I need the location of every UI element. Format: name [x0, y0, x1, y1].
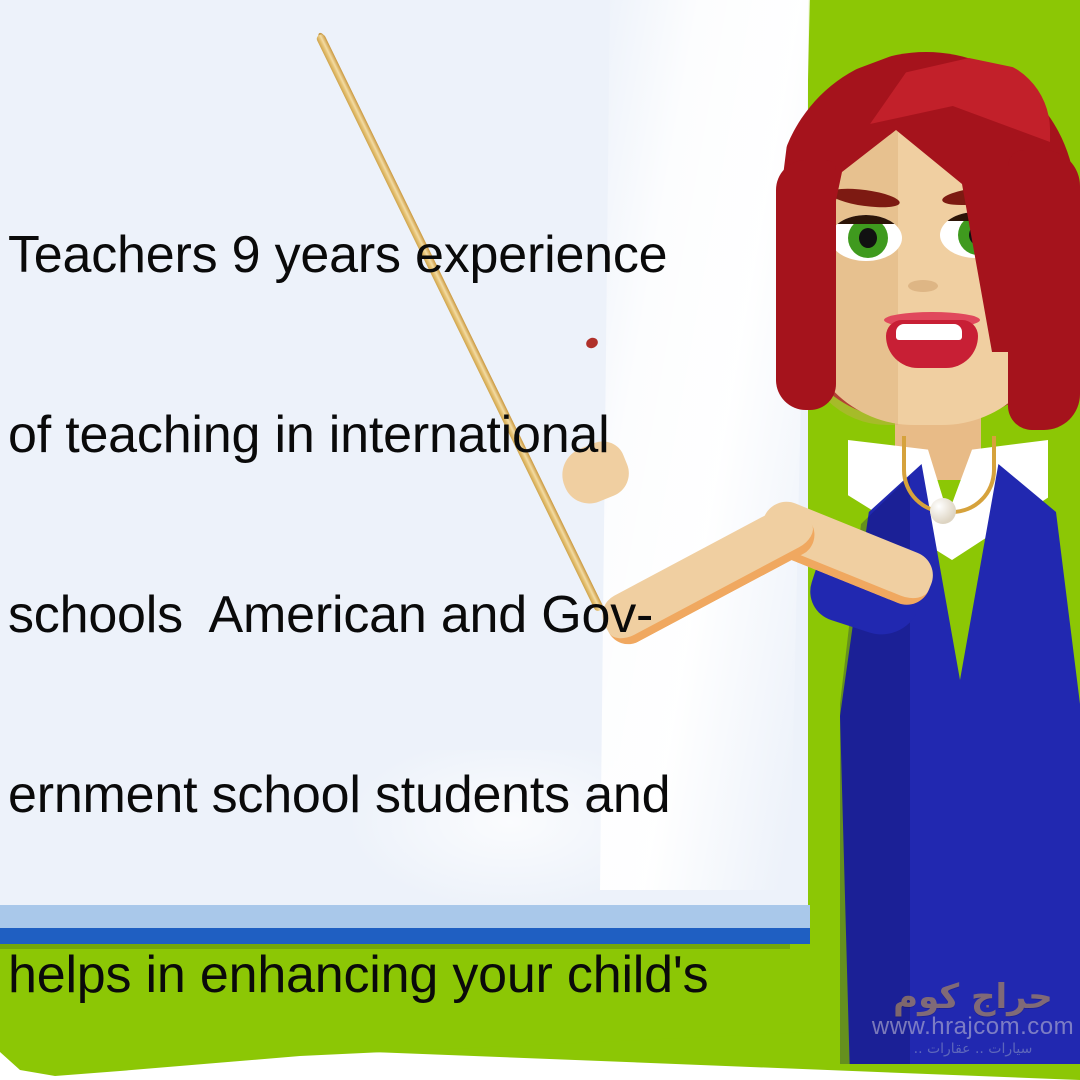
- hair-lock-right: [1008, 150, 1080, 430]
- teacher-illustration: [690, 40, 1080, 1040]
- poster-canvas: Teachers 9 years experience of teaching …: [0, 0, 1080, 1080]
- nose: [908, 280, 938, 292]
- copy-line: of teaching in international: [8, 405, 728, 465]
- iris-left: [848, 218, 888, 258]
- advert-copy: Teachers 9 years experience of teaching …: [8, 105, 728, 1080]
- copy-line: helps in enhancing your child's: [8, 945, 728, 1005]
- copy-line: schools American and Gov-: [8, 585, 728, 645]
- watermark-subtitle: سيارات .. عقارات ..: [868, 1040, 1078, 1058]
- copy-line: Teachers 9 years experience: [8, 225, 728, 285]
- necklace-pearl: [930, 498, 956, 524]
- watermark: حراج كوم www.hrajcom.com سيارات .. عقارا…: [868, 980, 1078, 1072]
- teeth: [896, 324, 962, 340]
- watermark-url: www.hrajcom.com: [868, 1014, 1078, 1040]
- pupil-left: [859, 228, 877, 248]
- eye-left: [830, 215, 902, 261]
- eyelash-left: [830, 215, 902, 224]
- hair-lock-left: [776, 160, 836, 410]
- watermark-brand: حراج كوم: [868, 980, 1078, 1014]
- copy-line: ernment school students and: [8, 765, 728, 825]
